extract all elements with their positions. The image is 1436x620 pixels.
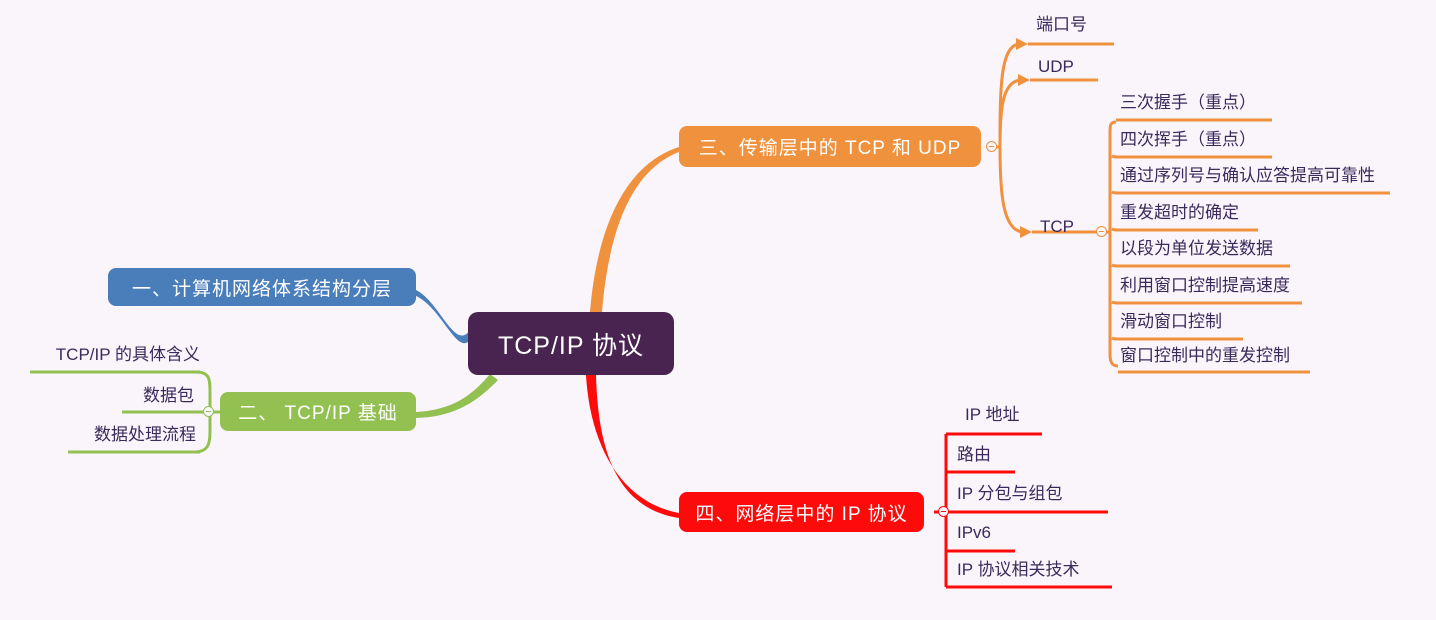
branch-node-1[interactable]: 一、计算机网络体系结构分层 (108, 268, 416, 306)
leaf-routing[interactable]: 路由 (957, 446, 991, 463)
root-node-label: TCP/IP 协议 (498, 326, 644, 362)
leaf-ip-fragmentation[interactable]: IP 分包与组包 (957, 485, 1062, 502)
collapse-toggle-branch-2[interactable] (203, 406, 214, 417)
leaf-port-number[interactable]: 端口号 (1036, 16, 1087, 33)
underline-tcp-7 (1112, 338, 1243, 339)
orange-arrow-port (1016, 38, 1028, 50)
leaf-tcp-window-retransmit[interactable]: 窗口控制中的重发控制 (1120, 347, 1290, 364)
leaf-data-packet[interactable]: 数据包 (0, 387, 194, 404)
leaf-tcp-window-speed[interactable]: 利用窗口控制提高速度 (1120, 277, 1290, 294)
collapse-toggle-branch-3[interactable] (986, 141, 997, 152)
branch-node-2[interactable]: 二、 TCP/IP 基础 (220, 392, 416, 431)
leaf-ipv6[interactable]: IPv6 (957, 524, 991, 541)
underline-tcp-6 (1112, 302, 1302, 303)
leaf-tcpip-meaning[interactable]: TCP/IP 的具体含义 (0, 346, 200, 363)
leaf-udp[interactable]: UDP (1038, 58, 1074, 75)
orange-arrow-tcp (1020, 226, 1032, 238)
leaf-data-process-flow[interactable]: 数据处理流程 (0, 426, 196, 443)
connector-branch-3 (590, 147, 679, 312)
leaf-ip-related-tech[interactable]: IP 协议相关技术 (957, 561, 1079, 578)
orange-arm-tcp (1000, 147, 1024, 232)
leaf-tcp-retransmit-timeout[interactable]: 重发超时的确定 (1120, 204, 1239, 221)
branch-node-4[interactable]: 四、网络层中的 IP 协议 (679, 492, 924, 532)
mindmap-canvas: TCP/IP 协议 一、计算机网络体系结构分层 二、 TCP/IP 基础 三、传… (0, 0, 1436, 620)
branch-node-3-label: 三、传输层中的 TCP 和 UDP (699, 133, 962, 160)
tcp-spine (1110, 122, 1118, 366)
underline-tcp-5 (1112, 265, 1290, 266)
leaf-tcp-sliding-window[interactable]: 滑动窗口控制 (1120, 313, 1222, 330)
branch-node-2-label: 二、 TCP/IP 基础 (238, 398, 397, 425)
orange-arm-udp (1000, 80, 1022, 147)
collapse-toggle-branch-4[interactable] (938, 506, 949, 517)
leaf-tcp[interactable]: TCP (1040, 218, 1074, 235)
connector-branch-1 (416, 290, 470, 343)
orange-arrow-udp (1018, 74, 1030, 86)
root-node[interactable]: TCP/IP 协议 (468, 312, 674, 375)
branch-node-3[interactable]: 三、传输层中的 TCP 和 UDP (679, 126, 981, 167)
connector-branch-2 (416, 374, 498, 418)
leaf-tcp-segment-unit[interactable]: 以段为单位发送数据 (1120, 240, 1273, 257)
leaf-tcp-seq-ack[interactable]: 通过序列号与确认应答提高可靠性 (1120, 167, 1375, 184)
collapse-toggle-tcp[interactable] (1096, 226, 1107, 237)
underline-tcp-4 (1112, 229, 1258, 230)
orange-arm-port (1000, 44, 1020, 147)
leaf-tcp-wave4[interactable]: 四次挥手（重点） (1120, 131, 1256, 148)
underline-tcp-3 (1112, 192, 1390, 193)
underline-tcp-2 (1112, 156, 1272, 157)
leaf-tcp-handshake3[interactable]: 三次握手（重点） (1120, 94, 1256, 111)
branch-node-1-label: 一、计算机网络体系结构分层 (132, 274, 392, 301)
connector-branch-4 (586, 375, 679, 518)
branch-node-4-label: 四、网络层中的 IP 协议 (695, 499, 907, 526)
leaf-ip-address[interactable]: IP 地址 (965, 406, 1019, 423)
